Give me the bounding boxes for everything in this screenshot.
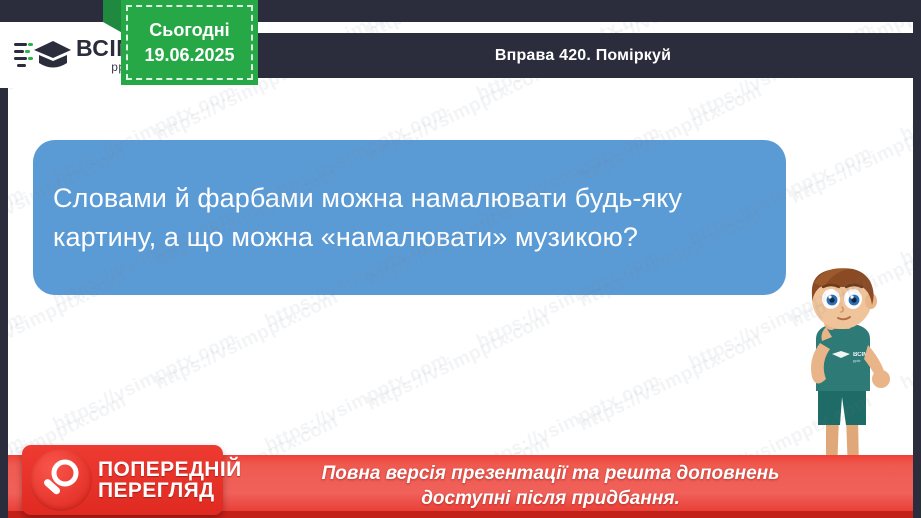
- magnifier-icon: [30, 449, 92, 511]
- date-ribbon-label: Сьогодні: [149, 18, 229, 42]
- preview-badge-line-1: ПОПЕРЕДНІЙ: [98, 459, 242, 480]
- slide-frame: https://vsimpptx.com https://vsimpptx.co…: [0, 0, 921, 518]
- date-ribbon-date: 19.06.2025: [144, 43, 234, 67]
- date-ribbon: Сьогодні 19.06.2025: [103, 0, 258, 88]
- slide-canvas: https://vsimpptx.com https://vsimpptx.co…: [8, 22, 913, 518]
- question-line-2: картину, а що можна «намалювати» музикою…: [53, 218, 766, 256]
- purchase-banner-line-2: доступні після придбання.: [421, 487, 680, 512]
- question-line-1: Словами й фарбами можна намалювати будь-…: [53, 179, 766, 217]
- graduation-cap-icon: [14, 35, 72, 75]
- header-bar: Вправа 420. Поміркуй: [253, 33, 913, 78]
- question-card: Словами й фарбами можна намалювати будь-…: [33, 140, 786, 295]
- preview-badge-line-2: ПЕРЕГЛЯД: [98, 480, 242, 501]
- purchase-banner-line-1: Повна версія презентації та решта доповн…: [322, 462, 780, 487]
- preview-badge[interactable]: ПОПЕРЕДНІЙ ПЕРЕГЛЯД: [22, 445, 223, 515]
- page-title: Вправа 420. Поміркуй: [495, 47, 671, 65]
- svg-text:pptx: pptx: [853, 358, 861, 363]
